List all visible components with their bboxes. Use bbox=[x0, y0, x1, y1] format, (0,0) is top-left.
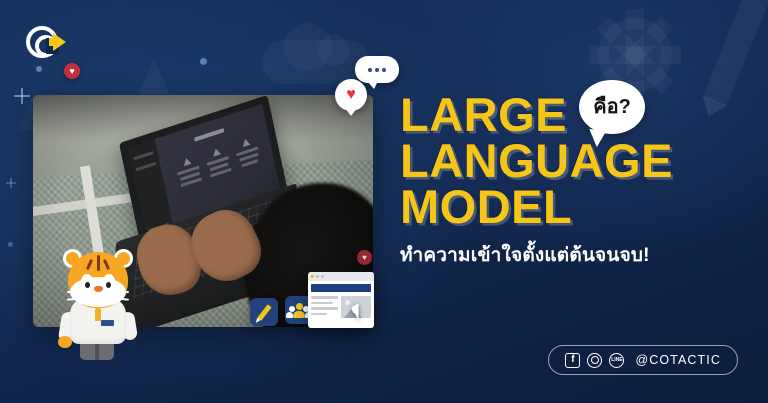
headline-row-1: LARGE คือ? bbox=[400, 92, 760, 138]
mockup-dot-1 bbox=[311, 275, 314, 278]
like-badge-icon: ♥ bbox=[64, 63, 80, 79]
mascot-pupil-left bbox=[85, 282, 90, 288]
social-handle-pill[interactable]: f LINE @COTACTIC bbox=[548, 345, 738, 375]
mockup-title-bar bbox=[308, 272, 374, 281]
like-badge-icon-2: ♥ bbox=[357, 250, 372, 265]
dot-decoration-2 bbox=[200, 58, 207, 65]
pencil-glyph bbox=[257, 304, 271, 320]
headline-line-1: LARGE bbox=[400, 92, 567, 138]
mockup-text-lines bbox=[311, 296, 338, 318]
headline-line-2: LANGUAGE bbox=[400, 138, 760, 184]
banner-root: ♥ ♥ ♥ bbox=[0, 0, 768, 403]
instagram-icon[interactable] bbox=[587, 353, 602, 368]
mascot-stripe-1 bbox=[97, 255, 100, 271]
line-icon[interactable]: LINE bbox=[609, 353, 624, 368]
social-handle-text: @COTACTIC bbox=[635, 353, 721, 367]
facebook-icon[interactable]: f bbox=[565, 353, 580, 368]
pencil-decoration-icon bbox=[702, 0, 768, 107]
mockup-header-bar bbox=[311, 284, 371, 292]
chat-bubble-icon bbox=[355, 56, 399, 83]
mascot-stripe-3 bbox=[103, 259, 110, 270]
sparkle-icon-2 bbox=[6, 178, 16, 188]
mascot-face bbox=[68, 252, 128, 308]
webpage-mockup bbox=[308, 272, 374, 328]
question-bubble-text: คือ? bbox=[593, 97, 631, 117]
mockup-line bbox=[311, 302, 333, 305]
cotactic-logo-icon bbox=[26, 24, 66, 60]
headline-block: LARGE คือ? LANGUAGE MODEL ทำความเข้าใจตั… bbox=[400, 92, 760, 270]
cotactic-tiger-mascot bbox=[58, 248, 138, 360]
cloud-icon bbox=[262, 40, 370, 84]
mouse-cursor-icon bbox=[351, 304, 362, 314]
mascot-name-badge bbox=[101, 320, 114, 326]
headline-subtitle: ทำความเข้าใจตั้งแต่ต้นจนจบ! bbox=[400, 240, 760, 270]
pencil-icon[interactable] bbox=[250, 298, 278, 326]
mascot-head bbox=[62, 248, 134, 312]
headline-line-3: MODEL bbox=[400, 184, 760, 230]
mockup-line bbox=[311, 313, 327, 316]
dot-decoration-3 bbox=[8, 242, 13, 247]
heart-bubble-icon: ♥ bbox=[335, 79, 367, 111]
logo-megaphone-icon bbox=[53, 33, 66, 51]
mockup-dot-2 bbox=[316, 275, 319, 278]
question-speech-bubble: คือ? bbox=[579, 80, 645, 134]
sparkle-icon bbox=[14, 88, 30, 104]
mascot-stripe-2 bbox=[86, 259, 93, 270]
heart-glyph: ♥ bbox=[346, 87, 356, 103]
dot-decoration bbox=[36, 66, 42, 72]
mockup-line bbox=[311, 307, 338, 310]
like-heart-glyph: ♥ bbox=[69, 67, 74, 76]
mascot-pupil-right bbox=[106, 282, 111, 288]
mascot-nose bbox=[94, 286, 103, 292]
like-heart-glyph-2: ♥ bbox=[362, 254, 367, 262]
mockup-line bbox=[311, 296, 338, 299]
people-glyph bbox=[289, 303, 309, 318]
mockup-dot-3 bbox=[321, 275, 324, 278]
